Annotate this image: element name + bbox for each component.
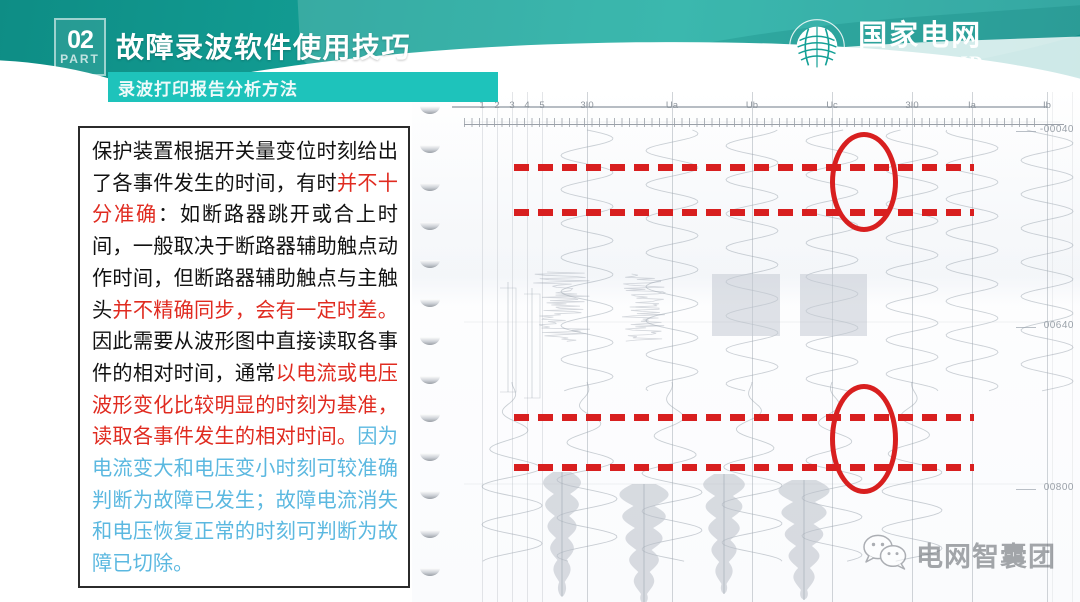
- subtitle-bar: 录波打印报告分析方法: [108, 72, 498, 102]
- slide-root: 02 PART 故障录波软件使用技巧 录波打印报告分析方法 国家电网 STATE…: [0, 0, 1080, 602]
- description-panel: 保护装置根据开关量变位时刻给出了各事件发生的时间，有时并不十分准确：如断路器跳开…: [78, 126, 410, 588]
- part-badge: 02 PART: [54, 18, 106, 76]
- highlight-ellipse-bottom: [830, 384, 898, 494]
- saturation-block-1: [800, 274, 867, 336]
- brand-logo: 国家电网 STATE GRID: [788, 18, 984, 76]
- marker-line-top-1: [514, 164, 974, 171]
- marker-line-top-2: [514, 209, 974, 216]
- watermark-text: 电网智囊团: [916, 535, 1056, 574]
- wechat-watermark: 电网智囊团: [862, 533, 1056, 576]
- state-grid-globe-icon: [788, 18, 846, 76]
- saturation-block-0: [712, 274, 780, 336]
- page-title: 故障录波软件使用技巧: [116, 26, 411, 66]
- brand-name-cn: 国家电网: [858, 22, 984, 51]
- marker-line-bottom-2: [514, 464, 974, 471]
- page-subtitle: 录波打印报告分析方法: [108, 75, 298, 100]
- text-segment-3: 并不精确同步，会有一定时差。: [112, 298, 398, 322]
- marker-line-bottom-1: [514, 414, 974, 421]
- wave-upper-6: [1021, 130, 1073, 391]
- wave-lower-0: [482, 382, 542, 561]
- brand-name-en: STATE GRID: [858, 54, 984, 73]
- description-text: 保护装置根据开关量变位时刻给出了各事件发生的时间，有时并不十分准确：如断路器跳开…: [92, 136, 398, 580]
- brand-wordmark: 国家电网 STATE GRID: [858, 22, 984, 73]
- oscillograph-report-image: 123453I0UaUbUc3I0IaIbIc -000400064000800: [412, 92, 1080, 602]
- highlight-ellipse-top: [830, 132, 898, 232]
- burst-band-2: [622, 274, 665, 341]
- part-word: PART: [60, 52, 100, 66]
- burst-band-1: [533, 272, 590, 341]
- part-number: 02: [67, 28, 93, 52]
- wechat-icon: [862, 533, 908, 576]
- digital-channel-pair: [508, 282, 532, 398]
